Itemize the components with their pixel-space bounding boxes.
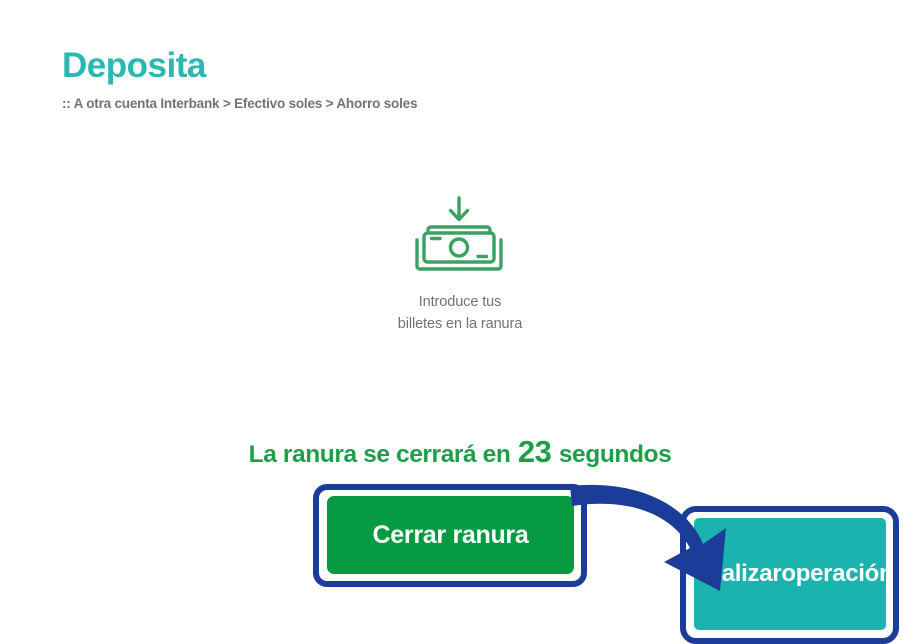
finish-operation-label-line-1: Finalizar bbox=[687, 559, 782, 590]
countdown-suffix: segundos bbox=[559, 441, 672, 468]
page-title: Deposita bbox=[62, 48, 206, 83]
countdown-prefix: La ranura se cerrará en bbox=[249, 441, 511, 468]
screen-root: Deposita :: A otra cuenta Interbank > Ef… bbox=[0, 0, 920, 644]
icon-caption-line-1: Introduce tus bbox=[0, 291, 920, 313]
breadcrumb: :: A otra cuenta Interbank > Efectivo so… bbox=[62, 96, 417, 112]
countdown-message: La ranura se cerrará en 23 segundos bbox=[0, 436, 920, 468]
finish-operation-button[interactable]: Finalizar operación bbox=[694, 518, 886, 630]
close-slot-button[interactable]: Cerrar ranura bbox=[327, 496, 574, 574]
countdown-seconds: 23 bbox=[517, 434, 552, 469]
icon-caption-line-2: billetes en la ranura bbox=[0, 313, 920, 335]
finish-operation-label-line-2: operación bbox=[781, 559, 893, 590]
cash-deposit-slot-icon bbox=[409, 196, 509, 274]
icon-caption: Introduce tus billetes en la ranura bbox=[0, 291, 920, 336]
